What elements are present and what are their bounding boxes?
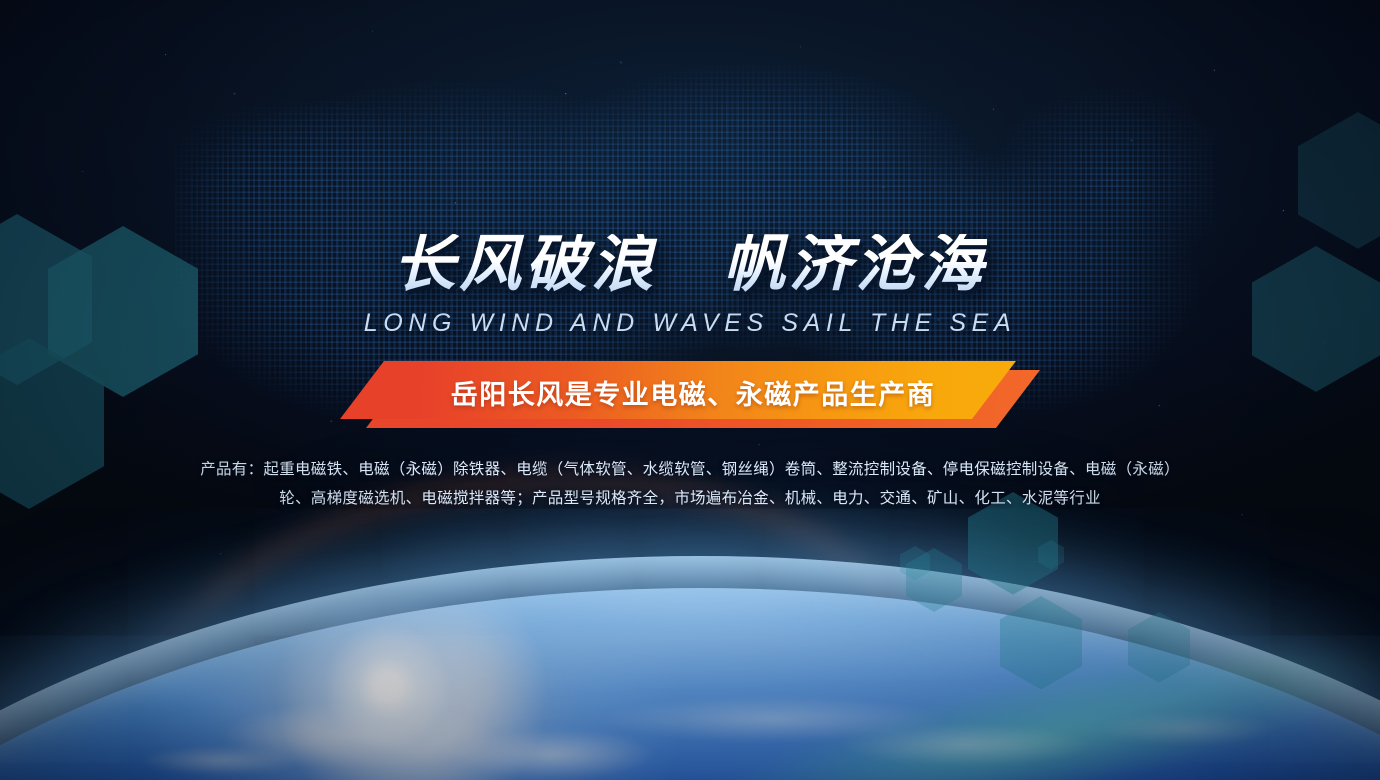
page-subtitle: LONG WIND AND WAVES SAIL THE SEA: [364, 309, 1016, 338]
description-line-2: 轮、高梯度磁选机、电磁搅拌器等；产品型号规格齐全，市场遍布冶金、机械、电力、交通…: [115, 484, 1265, 513]
tagline-banner-text: 岳阳长风是专业电磁、永磁产品生产商: [340, 361, 1040, 423]
hero-content: 长风破浪 帆济沧海 LONG WIND AND WAVES SAIL THE S…: [0, 0, 1380, 780]
product-description: 产品有：起重电磁铁、电磁（永磁）除铁器、电缆（气体软管、水缆软管、钢丝绳）卷筒、…: [115, 455, 1265, 513]
hero-banner: 长风破浪 帆济沧海 LONG WIND AND WAVES SAIL THE S…: [0, 0, 1380, 780]
tagline-banner: 岳阳长风是专业电磁、永磁产品生产商: [340, 361, 1040, 423]
page-title: 长风破浪 帆济沧海: [393, 234, 987, 296]
description-line-1: 产品有：起重电磁铁、电磁（永磁）除铁器、电缆（气体软管、水缆软管、钢丝绳）卷筒、…: [115, 455, 1265, 484]
